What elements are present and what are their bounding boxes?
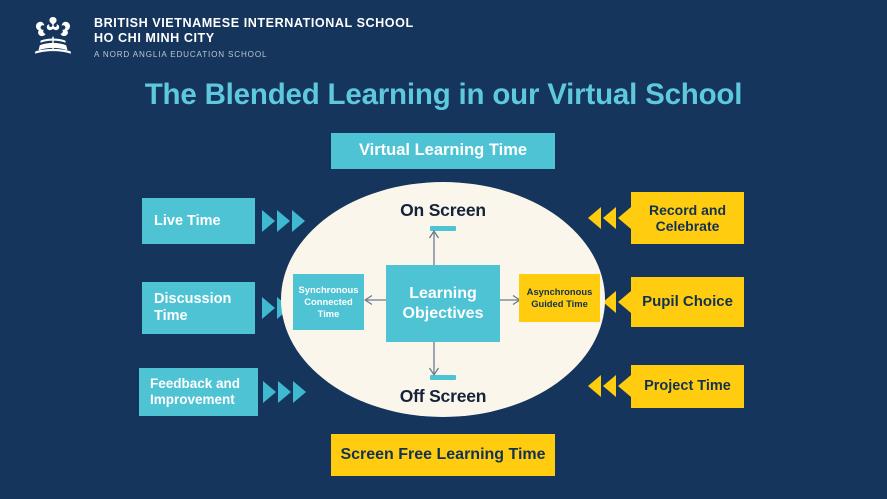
on-screen-label: On Screen bbox=[281, 200, 605, 221]
asynchronous-guided-time-label: Asynchronous Guided Time bbox=[519, 286, 600, 310]
asynchronous-guided-time-box: Asynchronous Guided Time bbox=[519, 274, 600, 322]
slide-canvas: BRITISH VIETNAMESE INTERNATIONAL SCHOOL … bbox=[0, 0, 887, 499]
learning-objectives-box: Learning Objectives bbox=[386, 265, 500, 342]
screen-free-learning-time-banner: Screen Free Learning Time bbox=[331, 434, 555, 476]
school-subtitle: A NORD ANGLIA EDUCATION SCHOOL bbox=[94, 46, 414, 62]
synchronous-connected-time-label: Synchronous Connected Time bbox=[293, 284, 364, 320]
screen-free-learning-time-label: Screen Free Learning Time bbox=[340, 446, 545, 465]
right-item-project-time: Project Time bbox=[631, 365, 744, 408]
arrow-left-icon bbox=[618, 207, 631, 229]
arrow-left-icon bbox=[618, 291, 631, 313]
school-name-block: BRITISH VIETNAMESE INTERNATIONAL SCHOOL … bbox=[94, 12, 414, 62]
left-item-feedback-and-improvement-label: Feedback and Improvement bbox=[150, 376, 258, 407]
school-branding: BRITISH VIETNAMESE INTERNATIONAL SCHOOL … bbox=[24, 12, 414, 62]
school-name-line1: BRITISH VIETNAMESE INTERNATIONAL SCHOOL bbox=[94, 16, 414, 31]
off-screen-label: Off Screen bbox=[281, 386, 605, 407]
arrow-right-icon bbox=[262, 210, 275, 232]
right-item-pupil-choice-label: Pupil Choice bbox=[642, 293, 733, 310]
crown-book-logo-icon bbox=[24, 12, 82, 58]
left-item-live-time-label: Live Time bbox=[154, 213, 221, 230]
left-item-discussion-time-label: Discussion Time bbox=[154, 291, 255, 325]
school-name-line2: HO CHI MINH CITY bbox=[94, 31, 414, 46]
synchronous-connected-time-box: Synchronous Connected Time bbox=[293, 274, 364, 330]
arrow-right-icon bbox=[263, 381, 276, 403]
page-title: The Blended Learning in our Virtual Scho… bbox=[0, 78, 887, 112]
connector-arrow-down-icon bbox=[428, 340, 440, 383]
right-item-project-time-label: Project Time bbox=[644, 378, 731, 395]
left-item-feedback-and-improvement: Feedback and Improvement bbox=[139, 368, 258, 416]
left-item-discussion-time: Discussion Time bbox=[142, 282, 255, 334]
right-item-record-and-celebrate: Record and Celebrate bbox=[631, 192, 744, 244]
arrow-right-icon bbox=[262, 297, 275, 319]
learning-objectives-label: Learning Objectives bbox=[386, 284, 500, 322]
virtual-learning-time-label: Virtual Learning Time bbox=[359, 141, 527, 160]
right-item-pupil-choice: Pupil Choice bbox=[631, 277, 744, 327]
connector-arrow-left-icon bbox=[363, 293, 387, 311]
virtual-learning-time-banner: Virtual Learning Time bbox=[331, 133, 555, 169]
right-item-record-and-celebrate-label: Record and Celebrate bbox=[631, 202, 744, 234]
arrow-left-icon bbox=[618, 375, 631, 397]
left-item-live-time: Live Time bbox=[142, 198, 255, 244]
